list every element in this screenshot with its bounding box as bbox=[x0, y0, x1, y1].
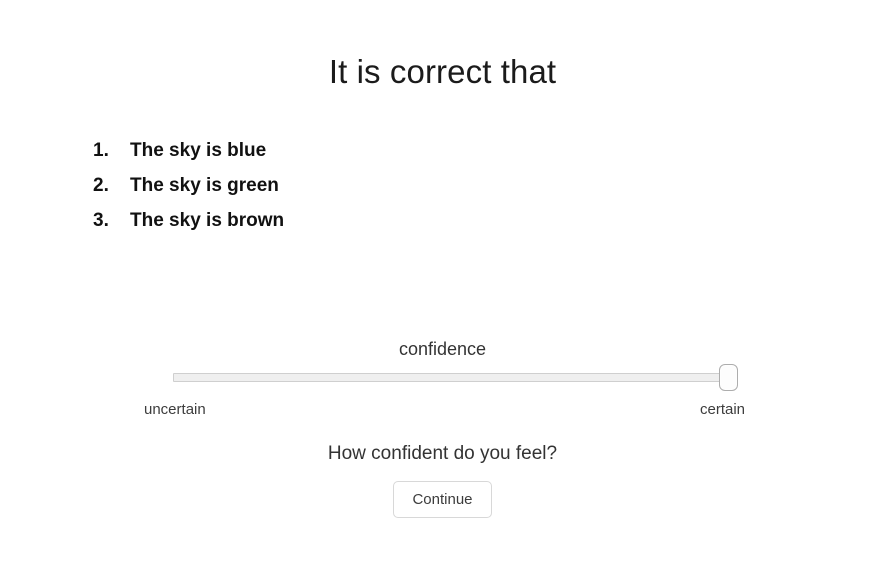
confidence-slider[interactable] bbox=[0, 364, 885, 398]
slider-track[interactable] bbox=[173, 373, 729, 382]
page-title: It is correct that bbox=[0, 52, 885, 92]
slider-endpoint-labels: uncertain certain bbox=[0, 399, 885, 421]
list-item-number: 3. bbox=[93, 203, 130, 238]
experiment-screen: It is correct that 1. The sky is blue 2.… bbox=[0, 0, 885, 578]
list-item-number: 1. bbox=[93, 133, 130, 168]
confidence-slider-group: confidence uncertain certain bbox=[0, 338, 885, 421]
slider-label-max: certain bbox=[700, 399, 745, 421]
statement-list: 1. The sky is blue 2. The sky is green 3… bbox=[93, 133, 284, 238]
confidence-question: How confident do you feel? bbox=[0, 442, 885, 466]
list-item: 3. The sky is brown bbox=[93, 203, 284, 238]
list-item-label: The sky is green bbox=[130, 168, 279, 203]
slider-label-min: uncertain bbox=[144, 399, 206, 421]
list-item: 1. The sky is blue bbox=[93, 133, 284, 168]
list-item: 2. The sky is green bbox=[93, 168, 284, 203]
continue-button[interactable]: Continue bbox=[393, 481, 491, 518]
list-item-label: The sky is brown bbox=[130, 203, 284, 238]
slider-fill bbox=[174, 374, 728, 381]
continue-button-container: Continue bbox=[0, 481, 885, 518]
slider-thumb[interactable] bbox=[719, 364, 738, 391]
list-item-number: 2. bbox=[93, 168, 130, 203]
list-item-label: The sky is blue bbox=[130, 133, 266, 168]
confidence-slider-caption: confidence bbox=[0, 338, 885, 360]
